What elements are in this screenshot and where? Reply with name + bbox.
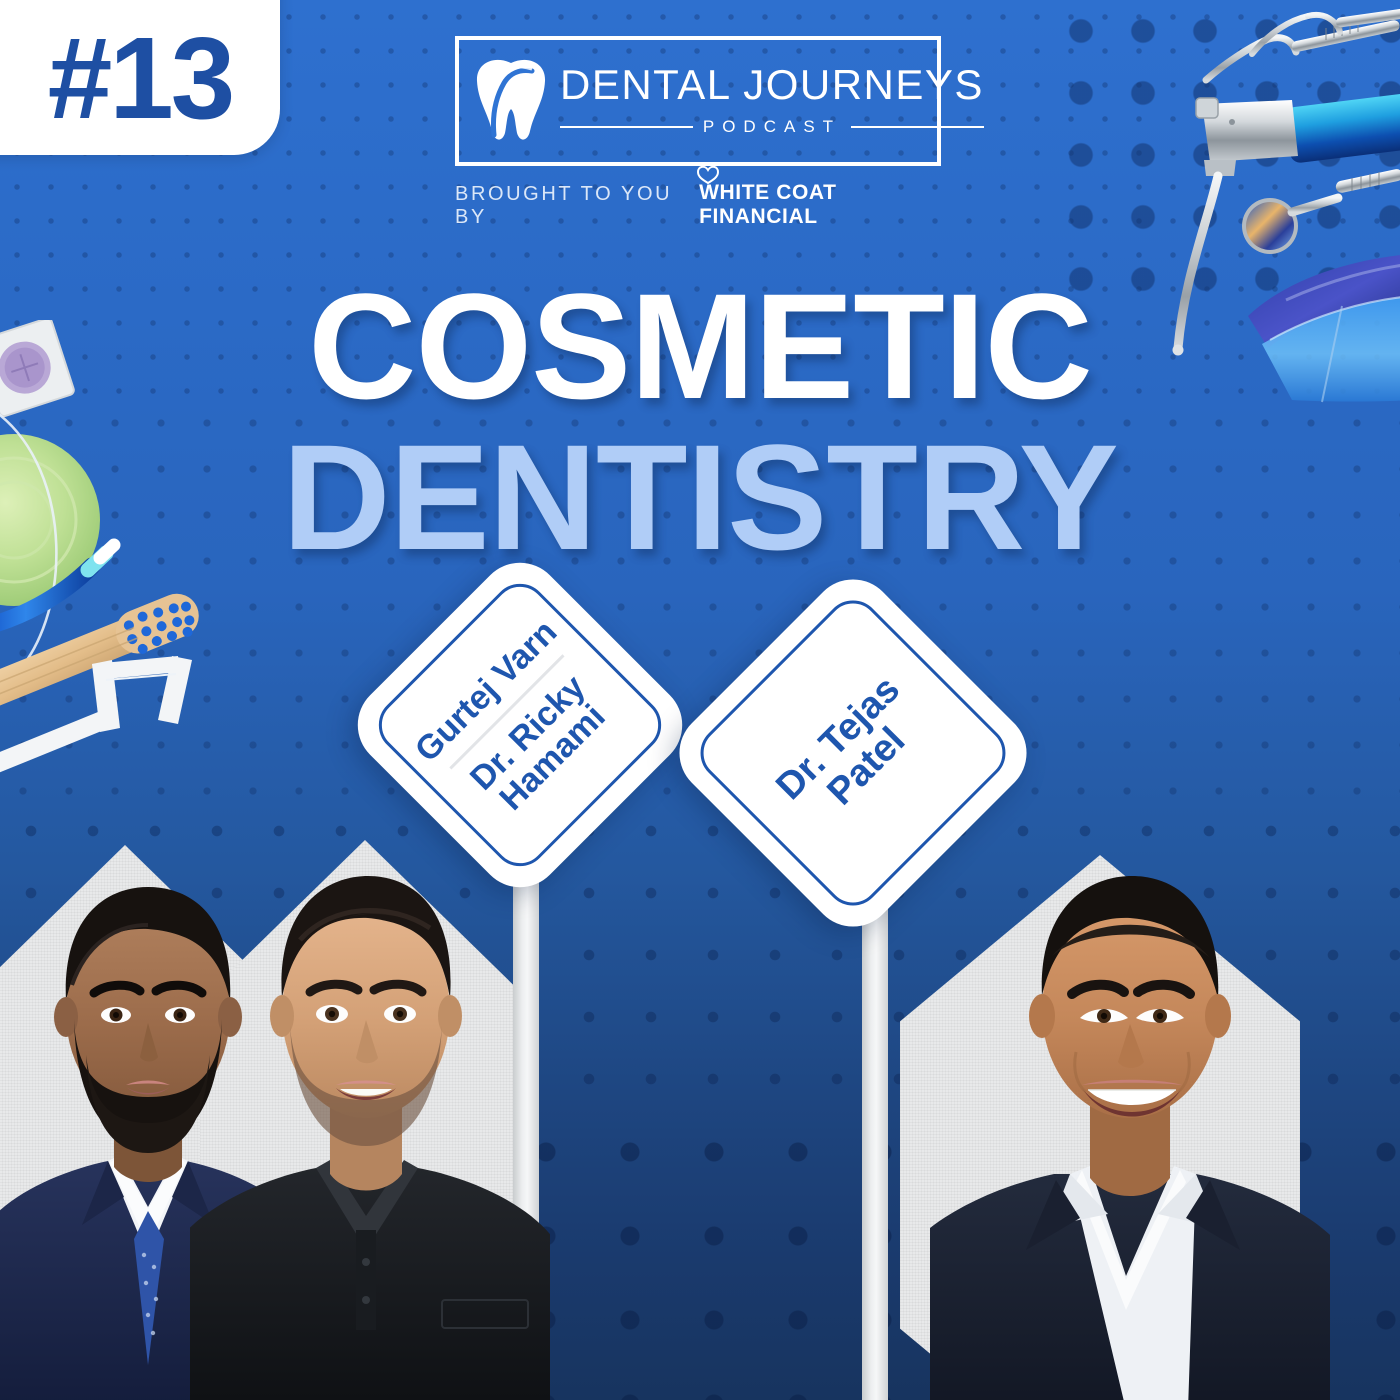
guest-photo-dr-tejas-patel bbox=[930, 810, 1330, 1400]
sponsor-mark: WHITE COAT FINANCIAL bbox=[699, 181, 941, 229]
podcast-rule-right bbox=[851, 126, 984, 128]
sponsor-line: BROUGHT TO YOU BY WHITE COAT FINANCIAL bbox=[455, 181, 941, 229]
logo-text-block: DENTAL JOURNEYS PODCAST bbox=[560, 64, 984, 137]
logo-frame: DENTAL JOURNEYS PODCAST bbox=[455, 36, 941, 166]
logo-subtitle: PODCAST bbox=[703, 117, 841, 137]
mouth-mirror bbox=[1242, 168, 1400, 254]
episode-title: COSMETIC DENTISTRY bbox=[0, 275, 1400, 568]
episode-number-badge: #13 bbox=[0, 0, 280, 155]
title-line-1: COSMETIC bbox=[0, 275, 1400, 418]
logo-contents: DENTAL JOURNEYS PODCAST bbox=[464, 45, 932, 157]
badge-text-group: Gurtej Varn Dr. Ricky Hamami bbox=[340, 545, 699, 904]
brand-logo-lockup: DENTAL JOURNEYS PODCAST BROUGHT TO YOU B… bbox=[455, 36, 941, 229]
episode-number: #13 bbox=[48, 20, 233, 136]
podcast-cover-art: Gurtej Varn Dr. Ricky Hamami Dr. Tejas P… bbox=[0, 0, 1400, 1400]
guest-badge-right[interactable]: Dr. Tejas Patel bbox=[718, 618, 988, 888]
guest-name-3: Dr. Tejas Patel bbox=[745, 645, 961, 861]
logo-title: DENTAL JOURNEYS bbox=[560, 64, 984, 106]
guest-badge-left[interactable]: Gurtej Varn Dr. Ricky Hamami bbox=[393, 598, 647, 852]
logo-subtitle-row: PODCAST bbox=[560, 117, 984, 137]
dental-explorer-probe bbox=[1206, 19, 1400, 80]
tooth-heart-icon bbox=[697, 166, 719, 184]
sponsor-name: WHITE COAT FINANCIAL bbox=[699, 181, 836, 228]
badge-text-group: Dr. Tejas Patel bbox=[662, 562, 1044, 944]
podcast-rule-left bbox=[560, 126, 693, 128]
title-line-2: DENTISTRY bbox=[0, 426, 1400, 569]
tooth-road-icon bbox=[474, 57, 548, 143]
sponsor-prefix: BROUGHT TO YOU BY bbox=[455, 183, 692, 229]
guest-photo-dr-ricky-hamami bbox=[190, 800, 550, 1400]
